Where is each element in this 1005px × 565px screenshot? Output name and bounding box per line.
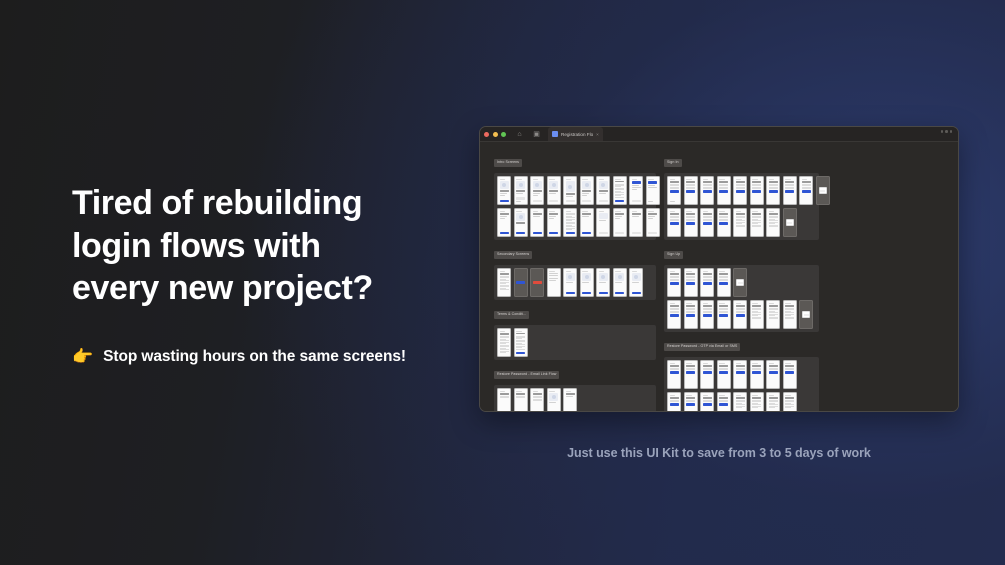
pointing-hand-icon: 👉 <box>72 348 93 365</box>
screen-mock[interactable] <box>646 176 660 205</box>
screen-mock[interactable] <box>547 388 561 412</box>
screen-mock[interactable] <box>497 208 511 237</box>
app-window: ⌂ ▣ Registration Flo × Intro <box>479 126 959 412</box>
screen-mock[interactable] <box>733 392 747 412</box>
frame-label[interactable]: Intro Screens <box>494 159 522 167</box>
screen-mock[interactable] <box>514 176 528 205</box>
screen-mock[interactable] <box>580 208 594 237</box>
window-titlebar: ⌂ ▣ Registration Flo × <box>480 127 958 142</box>
frame-sign-up[interactable]: Sign Up <box>664 247 819 332</box>
screen-mock[interactable] <box>613 208 627 237</box>
subline: 👉 Stop wasting hours on the same screens… <box>72 348 492 366</box>
frame-column-left: Intro Screens <box>494 155 656 412</box>
screen-mock[interactable] <box>547 176 561 205</box>
screen-mock[interactable] <box>667 300 681 329</box>
screen-mock[interactable] <box>717 392 731 412</box>
screen-mock[interactable] <box>733 176 747 205</box>
screen-mock[interactable] <box>514 208 528 237</box>
window-menu-button[interactable] <box>941 130 953 133</box>
screen-mock[interactable] <box>816 176 830 205</box>
screen-mock[interactable] <box>514 328 528 357</box>
screen-mock[interactable] <box>613 268 627 297</box>
screen-mock[interactable] <box>530 208 544 237</box>
screen-row <box>497 176 653 205</box>
frame-body <box>494 173 656 240</box>
frame-body <box>664 265 819 332</box>
dot-icon <box>941 130 944 133</box>
screen-mock[interactable] <box>717 176 731 205</box>
dot-icon <box>950 130 953 133</box>
screen-mock[interactable] <box>733 360 747 389</box>
screen-mock[interactable] <box>700 208 714 237</box>
copy-block: Tired of rebuilding login flows with eve… <box>72 182 492 366</box>
frame-label[interactable]: Restore Password - OTP via Email or SMS <box>664 343 740 351</box>
frame-label[interactable]: Secondary Screens <box>494 251 532 259</box>
screen-mock[interactable] <box>563 176 577 205</box>
screen-mock[interactable] <box>700 268 714 297</box>
screen-mock[interactable] <box>733 208 747 237</box>
screen-mock[interactable] <box>514 388 528 412</box>
screen-row <box>497 208 653 237</box>
screen-row <box>667 176 816 205</box>
screen-mock[interactable] <box>766 176 780 205</box>
screen-row <box>667 300 816 329</box>
screen-mock[interactable] <box>750 208 764 237</box>
close-icon[interactable]: × <box>596 132 599 137</box>
slide-canvas: Tired of rebuilding login flows with eve… <box>0 0 1005 565</box>
screen-mock[interactable] <box>783 392 797 412</box>
screen-row <box>667 360 816 389</box>
screen-mock[interactable] <box>684 268 698 297</box>
screen-row <box>667 268 816 297</box>
screen-mock[interactable] <box>700 300 714 329</box>
screen-mock[interactable] <box>547 208 561 237</box>
screen-mock[interactable] <box>596 208 610 237</box>
screen-mock[interactable] <box>629 176 643 205</box>
screen-mock[interactable] <box>497 268 511 297</box>
screen-mock[interactable] <box>530 176 544 205</box>
frame-restore-password-email-link[interactable]: Restore Password - Email Link Flow <box>494 367 656 412</box>
subline-label: Stop wasting hours on the same screens! <box>103 348 406 366</box>
screen-mock[interactable] <box>783 208 797 237</box>
frame-intro-screens[interactable]: Intro Screens <box>494 155 656 240</box>
screen-mock[interactable] <box>750 360 764 389</box>
screen-mock[interactable] <box>530 268 544 297</box>
screen-mock[interactable] <box>563 268 577 297</box>
screen-mock[interactable] <box>684 300 698 329</box>
frame-terms-and-conditions[interactable]: Terms & Conditi... <box>494 307 656 360</box>
screen-mock[interactable] <box>717 208 731 237</box>
screen-mock[interactable] <box>684 392 698 412</box>
screen-row <box>497 388 653 412</box>
screen-mock[interactable] <box>766 360 780 389</box>
screen-mock[interactable] <box>497 388 511 412</box>
screen-mock[interactable] <box>580 268 594 297</box>
screen-mock[interactable] <box>667 392 681 412</box>
frame-label[interactable]: Sign Up <box>664 251 683 259</box>
frame-body <box>494 385 656 412</box>
screen-mock[interactable] <box>497 328 511 357</box>
screen-mock[interactable] <box>799 300 813 329</box>
screen-mock[interactable] <box>750 176 764 205</box>
screen-mock[interactable] <box>629 268 643 297</box>
traffic-lights <box>484 132 506 137</box>
screen-row <box>497 328 653 357</box>
screen-mock[interactable] <box>766 392 780 412</box>
screen-mock[interactable] <box>580 176 594 205</box>
screen-mock[interactable] <box>733 268 747 297</box>
figma-file-icon <box>552 131 558 137</box>
frame-sign-in[interactable]: Sign In <box>664 155 819 240</box>
screen-mock[interactable] <box>629 208 643 237</box>
screen-mock[interactable] <box>700 360 714 389</box>
screen-mock[interactable] <box>646 208 660 237</box>
screen-mock[interactable] <box>783 300 797 329</box>
frame-label[interactable]: Terms & Conditi... <box>494 311 529 319</box>
frame-columns: Intro Screens <box>494 155 944 412</box>
screen-mock[interactable] <box>684 176 698 205</box>
screen-mock[interactable] <box>799 176 813 205</box>
close-window-button[interactable] <box>484 132 489 137</box>
screen-mock[interactable] <box>514 268 528 297</box>
frame-body <box>494 325 656 360</box>
frame-restore-password-otp[interactable]: Restore Password - OTP via Email or SMS <box>664 339 819 412</box>
screen-mock[interactable] <box>547 268 561 297</box>
screen-mock[interactable] <box>717 360 731 389</box>
tab-registration-flow[interactable]: Registration Flo × <box>548 127 603 141</box>
present-icon[interactable]: ▣ <box>530 129 543 140</box>
screen-row <box>667 208 816 237</box>
screen-mock[interactable] <box>750 300 764 329</box>
screen-mock[interactable] <box>563 208 577 237</box>
frame-label[interactable]: Sign In <box>664 159 682 167</box>
dot-icon <box>945 130 948 133</box>
maximize-window-button[interactable] <box>501 132 506 137</box>
page-title: Tired of rebuilding login flows with eve… <box>72 182 492 310</box>
design-canvas[interactable]: Intro Screens <box>480 142 958 412</box>
screen-mock[interactable] <box>700 392 714 412</box>
screen-mock[interactable] <box>667 176 681 205</box>
screen-mock[interactable] <box>766 300 780 329</box>
screen-mock[interactable] <box>684 208 698 237</box>
screen-mock[interactable] <box>783 176 797 205</box>
frame-label[interactable]: Restore Password - Email Link Flow <box>494 371 559 379</box>
screen-mock[interactable] <box>783 360 797 389</box>
screen-mock[interactable] <box>667 268 681 297</box>
screen-mock[interactable] <box>700 176 714 205</box>
screen-row <box>667 392 816 412</box>
frame-body <box>664 173 819 240</box>
screen-row <box>497 268 653 297</box>
screen-mock[interactable] <box>667 360 681 389</box>
screen-mock[interactable] <box>667 208 681 237</box>
screen-mock[interactable] <box>530 388 544 412</box>
frame-secondary-screens[interactable]: Secondary Screens <box>494 247 656 300</box>
screen-mock[interactable] <box>613 176 627 205</box>
frame-body <box>664 357 819 412</box>
home-icon[interactable]: ⌂ <box>513 129 526 140</box>
frame-column-right: Sign In <box>664 155 819 412</box>
screen-mock[interactable] <box>596 176 610 205</box>
frame-body <box>494 265 656 300</box>
screen-mock[interactable] <box>684 360 698 389</box>
screen-mock[interactable] <box>733 300 747 329</box>
caption-text: Just use this UI Kit to save from 3 to 5… <box>479 446 959 460</box>
screen-mock[interactable] <box>717 268 731 297</box>
screen-mock[interactable] <box>563 388 577 412</box>
minimize-window-button[interactable] <box>493 132 498 137</box>
screen-mock[interactable] <box>596 268 610 297</box>
screen-mock[interactable] <box>766 208 780 237</box>
screen-mock[interactable] <box>717 300 731 329</box>
screen-mock[interactable] <box>497 176 511 205</box>
tab-label: Registration Flo <box>561 132 593 137</box>
screen-mock[interactable] <box>750 392 764 412</box>
